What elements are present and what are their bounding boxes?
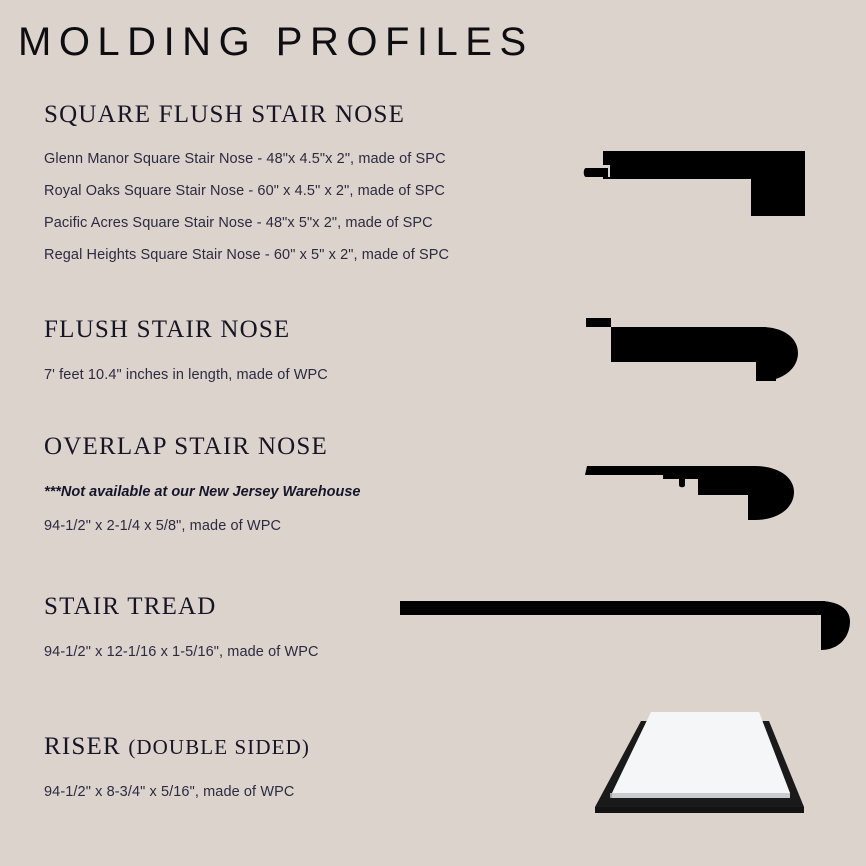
molding-profiles-page: MOLDING PROFILES SQUARE FLUSH STAIR NOSE… — [0, 0, 866, 866]
section-text-block: OVERLAP STAIR NOSE ***Not available at o… — [44, 432, 564, 535]
spec-line: Royal Oaks Square Stair Nose - 60" x 4.5… — [44, 183, 564, 200]
riser-heading-suffix: (DOUBLE SIDED) — [128, 735, 310, 759]
spec-line: 94-1/2" x 2-1/4 x 5/8", made of WPC — [44, 518, 564, 535]
section-heading-square-flush-stair-nose: SQUARE FLUSH STAIR NOSE — [44, 100, 564, 130]
spec-line: Pacific Acres Square Stair Nose - 48"x 5… — [44, 215, 564, 232]
flush-stair-nose-profile — [586, 315, 798, 387]
spec-line: 7' feet 10.4" inches in length, made of … — [44, 367, 564, 384]
section-text-block: RISER (DOUBLE SIDED) 94-1/2" x 8-3/4" x … — [44, 732, 564, 801]
page-title: MOLDING PROFILES — [18, 18, 534, 66]
square-flush-stair-nose-profile — [583, 144, 805, 224]
section-heading-riser-double-sided: RISER (DOUBLE SIDED) — [44, 732, 564, 762]
section-text-block: SQUARE FLUSH STAIR NOSE Glenn Manor Squa… — [44, 100, 564, 264]
section-text-block: FLUSH STAIR NOSE 7' feet 10.4" inches in… — [44, 315, 564, 384]
spec-line: Glenn Manor Square Stair Nose - 48"x 4.5… — [44, 151, 564, 168]
spec-line: 94-1/2" x 8-3/4" x 5/16", made of WPC — [44, 784, 564, 801]
stair-tread-profile — [400, 597, 850, 659]
section-heading-overlap-stair-nose: OVERLAP STAIR NOSE — [44, 432, 564, 462]
riser-double-sided-photo — [594, 707, 824, 842]
overlap-stair-nose-profile — [585, 455, 800, 530]
riser-heading-main: RISER — [44, 733, 128, 760]
section-heading-flush-stair-nose: FLUSH STAIR NOSE — [44, 315, 564, 345]
availability-note: ***Not available at our New Jersey Wareh… — [44, 484, 564, 501]
spec-line: Regal Heights Square Stair Nose - 60" x … — [44, 247, 564, 264]
